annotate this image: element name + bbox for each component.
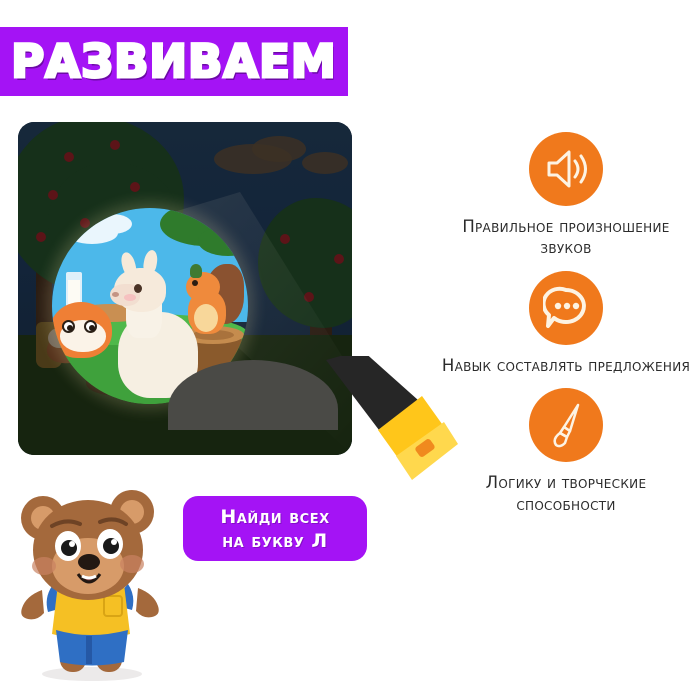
apple-1: [64, 152, 74, 162]
task-badge-line1: Найди всех: [220, 506, 329, 530]
fox-lit-pupil-right: [89, 325, 95, 331]
feature-label-pronunciation: Правильное произношение звуков: [440, 216, 692, 259]
headline-text: РАЗВИВАЕМ: [11, 35, 336, 88]
task-badge-line2: на букву Л: [222, 530, 327, 554]
feature-item-pronunciation: Правильное произношение звуков: [432, 132, 700, 259]
poster-root: РАЗВИВАЕМ: [0, 0, 700, 700]
apple-10: [304, 292, 314, 302]
fox-lit-eye-right: [84, 320, 97, 333]
apple-3: [48, 190, 58, 200]
feature-item-sentences: Навык составлять предложения: [432, 271, 700, 376]
fox-lit-pupil-left: [67, 325, 73, 331]
apple-6: [36, 232, 46, 242]
task-badge: Найди всех на букву Л: [183, 496, 367, 561]
apple-9: [334, 254, 344, 264]
spot-cloud-2: [92, 214, 132, 234]
llama-nose: [112, 292, 119, 297]
apple-4: [130, 182, 140, 192]
paintbrush-icon: [529, 388, 603, 462]
feature-list: Правильное произношение звуков Навык сос…: [432, 132, 700, 662]
llama-cheek: [124, 294, 136, 301]
apple-2: [110, 140, 120, 150]
cloud-dark-2: [252, 136, 306, 162]
feature-label-creativity: Логику и творческие способности: [440, 472, 692, 515]
scene-panel: [18, 122, 352, 455]
speech-bubble-dots-icon: [529, 271, 603, 345]
apple-8: [280, 234, 290, 244]
feature-item-creativity: Логику и творческие способности: [432, 388, 700, 515]
speaker-volume-icon: [529, 132, 603, 206]
headline-banner: РАЗВИВАЕМ: [0, 27, 348, 96]
bear-mascot: [8, 478, 173, 683]
fox-lit-eye-left: [62, 320, 75, 333]
llama-eye: [134, 284, 142, 293]
cloud-dark-3: [302, 152, 348, 174]
feature-label-sentences: Навык составлять предложения: [442, 355, 690, 376]
